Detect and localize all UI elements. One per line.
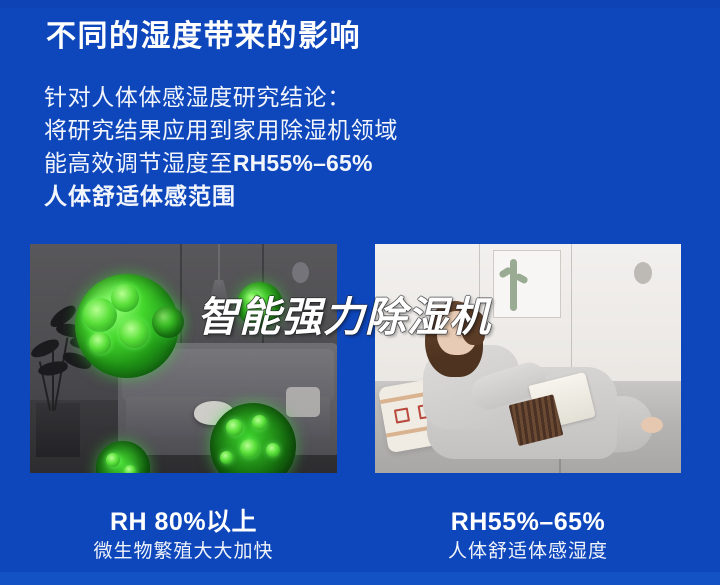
right-wall-seam: [571, 244, 572, 386]
microbe-cell: [240, 439, 259, 458]
body-line-2: 将研究结果应用到家用除湿机领域: [44, 114, 398, 147]
caption-subtitle: 微生物繁殖大大加快: [30, 538, 337, 566]
body-line-3-prefix: 能高效调节湿度至: [44, 150, 233, 176]
microbe-cell: [111, 284, 139, 312]
humidity-range-value: RH55%–65%: [233, 150, 373, 176]
pillow-motif: [394, 407, 410, 423]
caption-title: RH 80%以上: [30, 506, 337, 538]
microbe-cell: [266, 443, 280, 457]
microbe-cell: [220, 451, 233, 464]
cactus-illustration: [510, 259, 517, 311]
wall-knob: [634, 262, 652, 284]
top-accent-strip: [0, 0, 720, 8]
person-foot: [641, 417, 663, 433]
body-line-3: 能高效调节湿度至RH55%–65%: [44, 147, 398, 180]
caption-high-humidity: RH 80%以上 微生物繁殖大大加快: [30, 506, 337, 566]
wall-knob: [292, 262, 309, 283]
microbe-cell: [245, 292, 261, 308]
photo-comfort-humidity: [375, 244, 681, 473]
microbe-cell: [252, 415, 267, 430]
microbe-sphere: [152, 306, 184, 338]
plant-leaf: [37, 360, 69, 377]
plant-pot: [36, 403, 80, 457]
microbe-cell: [89, 332, 111, 354]
book-cover: [509, 394, 564, 446]
pendant-cord: [218, 244, 220, 286]
microbe-cell: [226, 419, 243, 436]
plant-leaf: [30, 337, 61, 360]
body-copy: 针对人体体感湿度研究结论： 将研究结果应用到家用除湿机领域 能高效调节湿度至RH…: [44, 81, 398, 213]
microbe-cell: [124, 465, 136, 473]
microbe-cell: [261, 304, 273, 316]
microbe-sphere: [237, 282, 283, 328]
photo-high-humidity: [30, 244, 337, 473]
microbe-cell: [106, 453, 120, 467]
body-line-1: 针对人体体感湿度研究结论：: [44, 81, 398, 114]
left-sofa-pillow: [286, 387, 320, 417]
microbe-cell: [119, 318, 149, 348]
humidity-info-poster: 不同的湿度带来的影响 针对人体体感湿度研究结论： 将研究结果应用到家用除湿机领域…: [0, 0, 720, 585]
caption-subtitle: 人体舒适体感湿度: [375, 538, 681, 566]
caption-title: RH55%–65%: [375, 506, 681, 538]
wall-art-frame: [493, 250, 561, 318]
caption-comfort-humidity: RH55%–65% 人体舒适体感湿度: [375, 506, 681, 566]
body-line-4: 人体舒适体感范围: [44, 180, 398, 213]
person-hair-front: [461, 311, 485, 345]
page-title: 不同的湿度带来的影响: [46, 18, 361, 56]
bottom-accent-strip: [0, 572, 720, 585]
plant-stem: [52, 351, 54, 411]
